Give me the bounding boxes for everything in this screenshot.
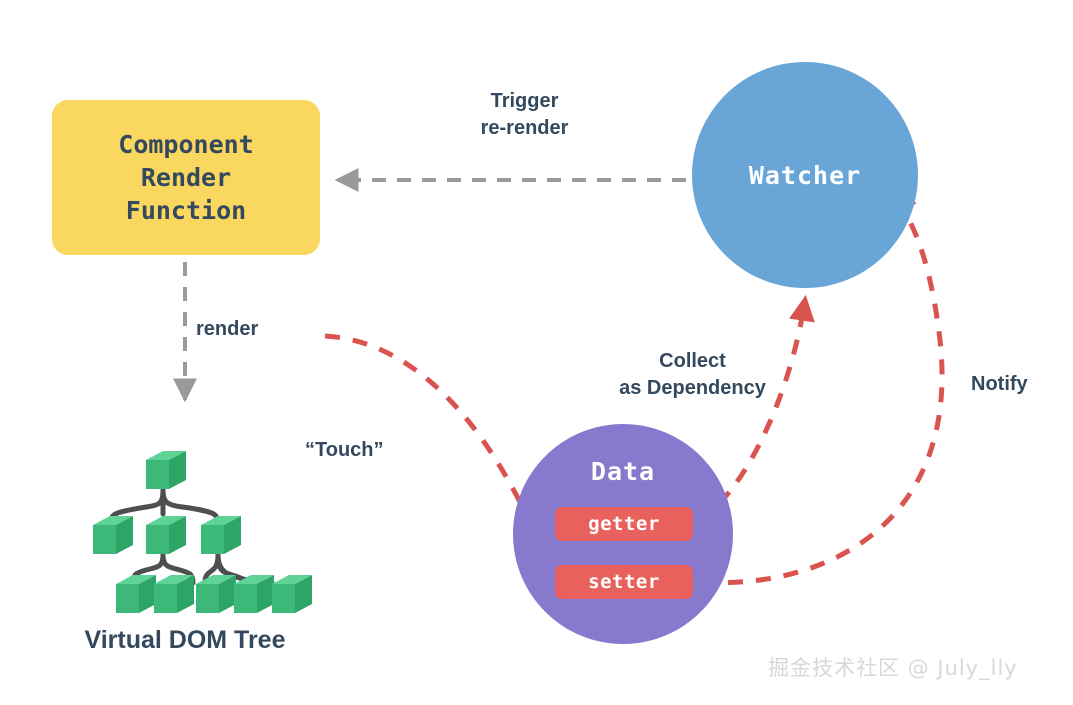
data-label: Data bbox=[513, 457, 733, 486]
tree-cube-l3-5 bbox=[272, 575, 312, 613]
tree-cube-l2-3 bbox=[201, 516, 241, 554]
watermark-text: 掘金技术社区 @ July_lly bbox=[768, 652, 1018, 682]
touch-curve bbox=[325, 336, 525, 512]
watcher-label: Watcher bbox=[749, 161, 861, 190]
component-render-function-label: Component Render Function bbox=[118, 128, 253, 227]
diagram-canvas: Component Render Function Watcher Data g… bbox=[0, 0, 1073, 705]
data-getter-box[interactable]: getter bbox=[555, 507, 693, 541]
component-render-function-node[interactable]: Component Render Function bbox=[52, 100, 320, 255]
tree-cube-l2-1 bbox=[93, 516, 133, 554]
watcher-node[interactable]: Watcher bbox=[692, 62, 918, 288]
tree-cube-l2-2 bbox=[146, 516, 186, 554]
tree-cube-l3-3 bbox=[196, 575, 236, 613]
virtual-dom-tree-links bbox=[110, 489, 272, 583]
tree-cube-root bbox=[146, 451, 186, 489]
edge-label-collect-as-dependency: Collect as Dependency bbox=[600, 348, 785, 402]
tree-cube-l3-1 bbox=[116, 575, 156, 613]
virtual-dom-tree-caption: Virtual DOM Tree bbox=[52, 626, 318, 655]
edge-label-trigger-re-render: Trigger re-render bbox=[432, 88, 617, 142]
edge-label-render: render bbox=[196, 316, 326, 343]
edge-label-touch: “Touch” bbox=[305, 437, 450, 464]
tree-cube-l3-2 bbox=[154, 575, 194, 613]
data-node[interactable]: Data getter setter bbox=[513, 424, 733, 644]
data-setter-box[interactable]: setter bbox=[555, 565, 693, 599]
virtual-dom-tree-cubes bbox=[93, 451, 312, 613]
edge-label-notify: Notify bbox=[971, 371, 1071, 398]
